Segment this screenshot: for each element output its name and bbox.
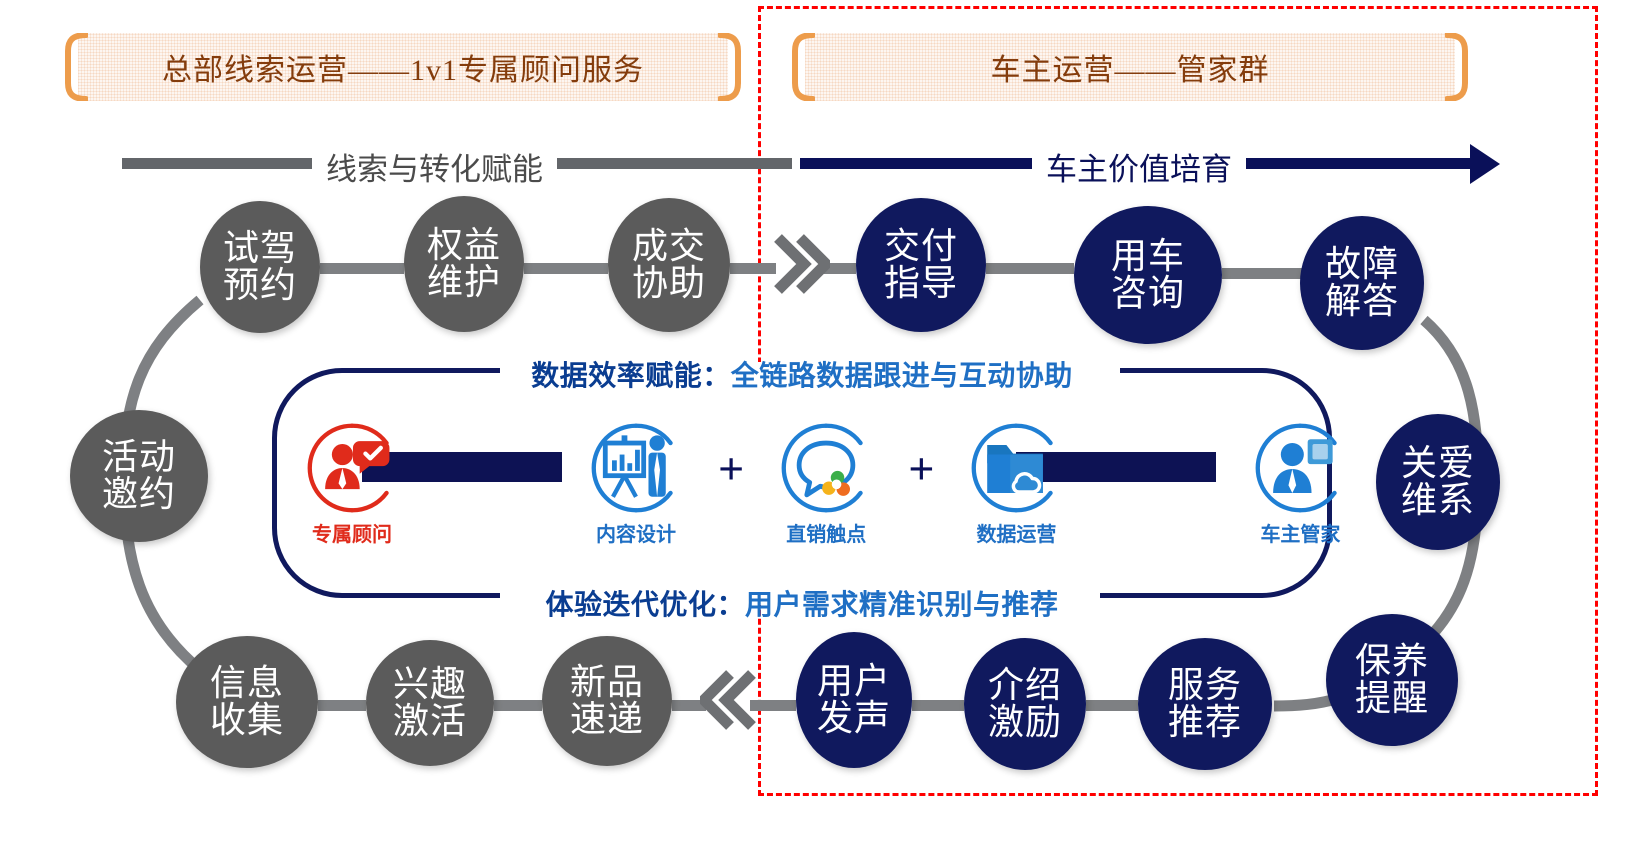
node-label-line1: 成交	[632, 228, 706, 265]
icon-cell-content-design[interactable]: 内容设计	[580, 420, 692, 547]
node-label-line1: 活动	[102, 439, 176, 476]
node-label-line1: 故障	[1325, 246, 1399, 283]
icon-label-content-design: 内容设计	[596, 518, 676, 547]
node-maintenance-reminder[interactable]: 保养 提醒	[1326, 614, 1458, 746]
left-brace-icon	[789, 33, 815, 101]
icon-label-direct-sales-touchpoint: 直销触点	[786, 518, 866, 547]
band-bar-right	[557, 158, 792, 169]
icon-label-data-operation: 数据运营	[976, 518, 1056, 547]
plus-separator-1: +	[718, 446, 744, 492]
node-label-line2: 收集	[210, 702, 284, 739]
header-pill-owner-operation: 车主运营——管家群	[805, 33, 1455, 101]
band-lead-conversion-enablement: 线索与转化赋能	[122, 141, 792, 186]
node-label-line1: 服务	[1168, 667, 1242, 704]
icon-cell-direct-sales-touchpoint[interactable]: 直销触点	[770, 420, 882, 547]
node-delivery-guidance[interactable]: 交付 指导	[856, 198, 986, 332]
node-label-line1: 交付	[884, 228, 958, 265]
band-bar-left	[800, 158, 1032, 169]
node-user-voice[interactable]: 用户 发声	[796, 632, 912, 768]
node-label-line1: 兴趣	[393, 666, 467, 703]
diagram-canvas: 总部线索运营——1v1专属顾问服务 车主运营——管家群 线索与转化赋能 车主价值…	[0, 0, 1644, 849]
node-label-line1: 新品	[570, 664, 644, 701]
node-label-line1: 关爱	[1401, 445, 1475, 482]
node-new-product-delivery[interactable]: 新品 速递	[542, 636, 672, 766]
icon-cell-data-operation[interactable]: 数据运营	[960, 420, 1072, 547]
connector-delivery-to-usage	[986, 263, 1074, 274]
chevron-right-icon	[770, 232, 830, 296]
capsule-title-top-rest: 全链路数据跟进与互动协助	[731, 361, 1073, 392]
node-event-invitation[interactable]: 活动 邀约	[70, 410, 208, 542]
chevron-left-icon	[700, 668, 760, 732]
icon-label-exclusive-advisor: 专属顾问	[312, 518, 392, 547]
node-label-line2: 预约	[223, 267, 297, 304]
node-label-line2: 指导	[884, 265, 958, 302]
icon-cell-owner-butler[interactable]: 车主管家	[1244, 420, 1356, 547]
right-brace-icon	[1445, 33, 1471, 101]
node-label-line1: 保养	[1355, 643, 1429, 680]
node-test-drive-booking[interactable]: 试驾 预约	[200, 201, 320, 333]
node-label-line2: 维系	[1401, 482, 1475, 519]
node-care-retention[interactable]: 关爱 维系	[1376, 414, 1500, 550]
node-label-line2: 激活	[393, 703, 467, 740]
arrow-right-icon	[1470, 144, 1500, 184]
connector-test-drive-to-rights	[320, 263, 404, 274]
user-message-icon	[1252, 420, 1348, 516]
connector-referral-to-service	[1086, 700, 1138, 711]
right-brace-icon	[718, 33, 744, 101]
node-label-line1: 用车	[1111, 238, 1185, 275]
header-pill-hq-lead-operation: 总部线索运营——1v1专属顾问服务	[78, 33, 728, 101]
capability-icon-row: 专属顾问	[296, 420, 1356, 547]
node-label-line2: 速递	[570, 701, 644, 738]
chat-bubble-icon	[778, 420, 874, 516]
node-label-line1: 权益	[427, 227, 501, 264]
node-vehicle-usage-consult[interactable]: 用车 咨询	[1074, 206, 1222, 344]
band-owner-value-cultivation: 车主价值培育	[800, 141, 1500, 186]
plus-separator-2: +	[908, 446, 934, 492]
node-label-line2: 解答	[1325, 283, 1399, 320]
node-label-line1: 用户	[817, 663, 891, 700]
node-label-line2: 激励	[988, 704, 1062, 741]
node-label-line2: 咨询	[1111, 275, 1185, 312]
node-rights-maintenance[interactable]: 权益 维护	[404, 196, 524, 332]
capsule-title-bottom: 体验迭代优化：用户需求精准识别与推荐	[272, 583, 1332, 623]
node-label-line1: 信息	[210, 665, 284, 702]
node-service-recommendation[interactable]: 服务 推荐	[1138, 638, 1272, 770]
left-brace-icon	[62, 33, 88, 101]
node-label-line1: 介绍	[988, 667, 1062, 704]
node-label-line2: 提醒	[1355, 680, 1429, 717]
node-label-line2: 维护	[427, 264, 501, 301]
node-label-line2: 邀约	[102, 476, 176, 513]
node-deal-assistance[interactable]: 成交 协助	[608, 198, 730, 332]
connector-interest-to-newproduct	[494, 700, 542, 711]
node-label-line2: 协助	[632, 265, 706, 302]
header-label-hq-lead-operation: 总部线索运营——1v1专属顾问服务	[162, 45, 644, 89]
node-interest-activation[interactable]: 兴趣 激活	[366, 640, 494, 766]
presentation-board-icon	[588, 420, 684, 516]
band-label-owner-value-cultivation: 车主价值培育	[1032, 144, 1246, 189]
capsule-title-bottom-rest: 用户需求精准识别与推荐	[745, 590, 1059, 621]
icon-label-owner-butler: 车主管家	[1260, 518, 1340, 547]
node-label-line1: 试驾	[223, 230, 297, 267]
connector-rights-to-deal	[524, 263, 608, 274]
node-label-line2: 推荐	[1168, 704, 1242, 741]
header-label-owner-operation: 车主运营——管家群	[991, 45, 1270, 89]
node-label-line2: 发声	[817, 700, 891, 737]
user-check-icon	[304, 420, 400, 516]
node-information-collection[interactable]: 信息 收集	[176, 636, 318, 768]
capsule-title-top: 数据效率赋能：全链路数据跟进与互动协助	[272, 354, 1332, 394]
band-label-lead-conversion-enablement: 线索与转化赋能	[312, 144, 557, 189]
connector-info-to-interest	[318, 700, 366, 711]
band-bar-right	[1246, 158, 1470, 169]
connector-uservoice-to-referral	[912, 700, 964, 711]
band-bar-left	[122, 158, 312, 169]
node-referral-incentive[interactable]: 介绍 激励	[964, 638, 1086, 770]
folder-cloud-icon	[968, 420, 1064, 516]
icon-cell-exclusive-advisor[interactable]: 专属顾问	[296, 420, 408, 547]
capsule-title-top-prefix: 数据效率赋能：	[531, 361, 731, 392]
node-fault-answering[interactable]: 故障 解答	[1300, 216, 1424, 350]
capsule-title-bottom-prefix: 体验迭代优化：	[545, 590, 745, 621]
